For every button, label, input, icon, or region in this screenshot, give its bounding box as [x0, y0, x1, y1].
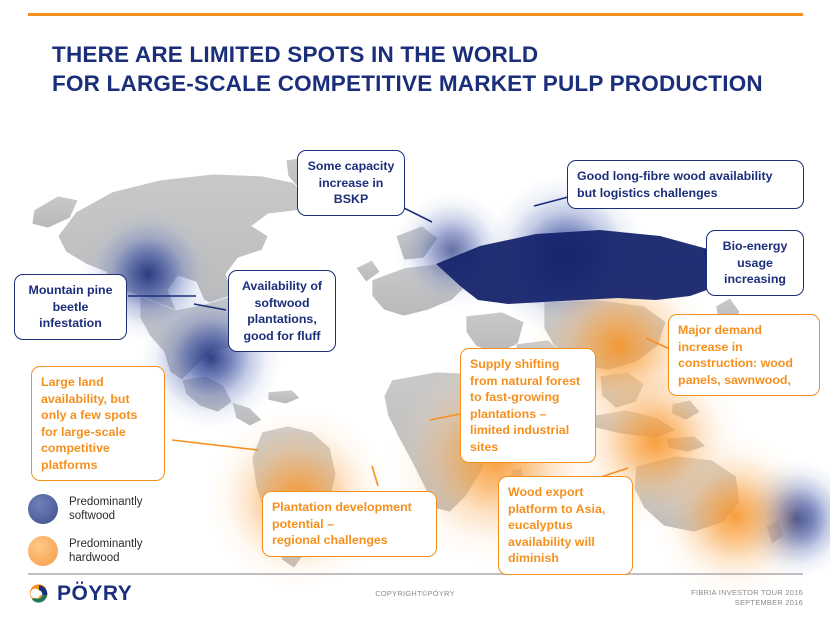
map-legend: Predominantly softwood Predominantly har…: [28, 494, 143, 578]
callout-plantation-development[interactable]: Plantation development potential – regio…: [262, 491, 437, 557]
callout-large-land[interactable]: Large land availability, but only a few …: [31, 366, 165, 481]
callout-bskp[interactable]: Some capacity increase in BSKP: [297, 150, 405, 216]
slide-canvas: THERE ARE LIMITED SPOTS IN THE WORLD FOR…: [0, 0, 830, 623]
legend-item-hardwood: Predominantly hardwood: [28, 536, 143, 566]
callout-supply-shifting[interactable]: Supply shifting from natural forest to f…: [460, 348, 596, 463]
callout-softwood-availability[interactable]: Availability of softwood plantations, go…: [228, 270, 336, 352]
callout-long-fibre[interactable]: Good long-fibre wood availability but lo…: [567, 160, 804, 209]
legend-label-softwood: Predominantly softwood: [69, 495, 143, 523]
legend-item-softwood: Predominantly softwood: [28, 494, 143, 524]
callout-beetle[interactable]: Mountain pine beetle infestation: [14, 274, 127, 340]
callout-bio-energy[interactable]: Bio-energy usage increasing: [706, 230, 804, 296]
legend-swatch-hardwood-icon: [28, 536, 58, 566]
legend-label-hardwood: Predominantly hardwood: [69, 537, 143, 565]
legend-swatch-softwood-icon: [28, 494, 58, 524]
callout-major-demand[interactable]: Major demand increase in construction: w…: [668, 314, 820, 396]
callout-wood-export[interactable]: Wood export platform to Asia, eucalyptus…: [498, 476, 633, 575]
